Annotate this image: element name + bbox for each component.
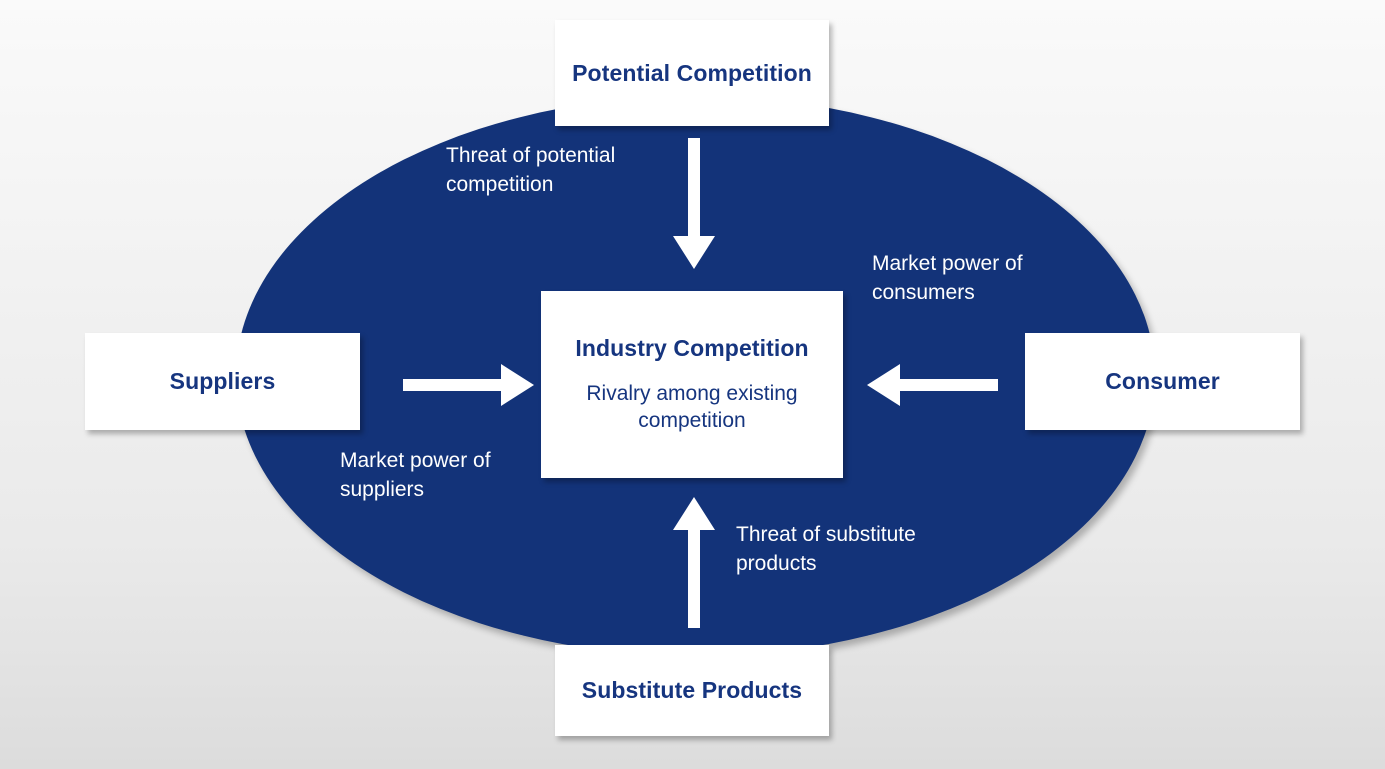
node-potential-competition[interactable]: Potential Competition <box>555 20 829 126</box>
arrow-left-icon <box>866 363 998 407</box>
node-potential-competition-label: Potential Competition <box>572 59 812 88</box>
node-industry-competition[interactable]: Industry Competition Rivalry among exist… <box>541 291 843 478</box>
edge-label-market-power-of-consumers: Market power of consumers <box>872 250 1112 307</box>
node-substitute-products[interactable]: Substitute Products <box>555 645 829 736</box>
arrow-down-icon <box>672 138 716 270</box>
node-consumer[interactable]: Consumer <box>1025 333 1300 430</box>
arrow-up-icon <box>672 496 716 628</box>
node-suppliers[interactable]: Suppliers <box>85 333 360 430</box>
edge-label-threat-of-substitute-products: Threat of substitute products <box>736 521 916 578</box>
arrow-right-icon <box>403 363 535 407</box>
node-consumer-label: Consumer <box>1105 367 1220 396</box>
diagram-canvas: Threat of potential competition Market p… <box>0 0 1385 769</box>
node-suppliers-label: Suppliers <box>170 367 276 396</box>
edge-label-threat-of-potential-competition: Threat of potential competition <box>446 142 636 199</box>
node-substitute-products-label: Substitute Products <box>582 676 802 705</box>
node-industry-competition-title: Industry Competition <box>575 334 808 363</box>
edge-label-market-power-of-suppliers: Market power of suppliers <box>340 447 560 504</box>
node-industry-competition-subtitle: Rivalry among existing competition <box>541 381 843 434</box>
